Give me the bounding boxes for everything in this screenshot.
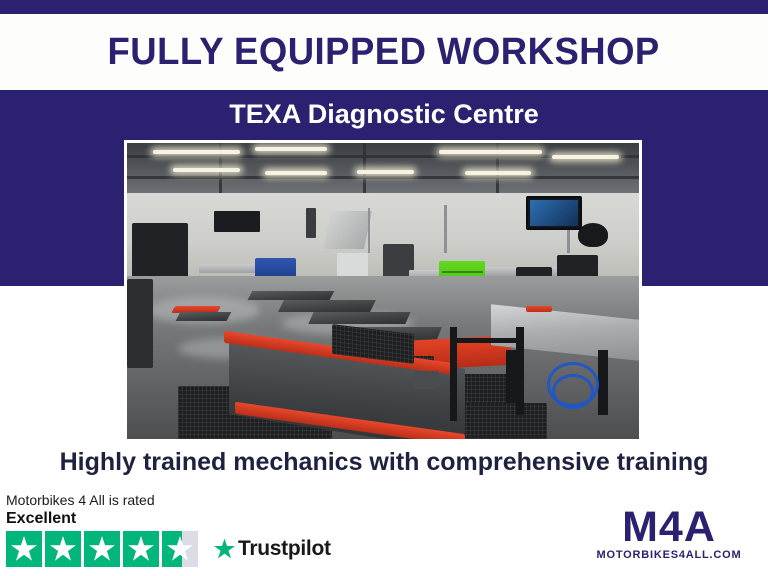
ceiling-light: [465, 171, 532, 175]
ceiling-light: [255, 147, 327, 151]
star-1: [6, 531, 42, 567]
star-5: [162, 531, 198, 567]
top-navy-strip: [0, 0, 768, 14]
ceiling-beam: [363, 143, 366, 193]
red-tool-tray: [526, 306, 552, 312]
page-title: FULLY EQUIPPED WORKSHOP: [108, 31, 660, 74]
foreground-equipment: [127, 279, 153, 368]
star-rating: [6, 531, 198, 567]
support-post: [444, 205, 447, 252]
steel-ramp: [309, 312, 412, 324]
wall-hanging: [306, 208, 316, 238]
helmet: [578, 223, 609, 247]
ceiling-light: [552, 155, 619, 159]
trustpilot-rated-label: Motorbikes 4 All is rated: [6, 492, 336, 509]
steel-ramp: [278, 300, 376, 312]
m4a-brand-logo[interactable]: M4A MOTORBIKES4ALL.COM: [584, 505, 754, 562]
trustpilot-score-label: Excellent: [6, 509, 336, 528]
ceiling-light: [357, 170, 413, 174]
title-band: FULLY EQUIPPED WORKSHOP: [0, 14, 768, 90]
bike-stand-frame: [450, 338, 522, 342]
ceiling-light: [173, 168, 240, 172]
workshop-promo-slide: FULLY EQUIPPED WORKSHOP TEXA Diagnostic …: [0, 0, 768, 576]
steel-ramp: [176, 312, 232, 321]
ceiling-light: [439, 150, 541, 154]
table-leg: [598, 350, 608, 415]
star-2: [45, 531, 81, 567]
trustpilot-star-icon: [214, 539, 235, 560]
trustpilot-stars-row: Trustpilot: [6, 531, 336, 567]
coiled-air-hose: [552, 374, 594, 410]
trustpilot-rating-block[interactable]: Motorbikes 4 All is rated Excellent: [6, 492, 336, 567]
steel-ramp: [248, 291, 335, 300]
lift-foot-pedal: [414, 371, 440, 389]
support-post: [368, 208, 370, 252]
ceiling-light: [153, 150, 240, 154]
star-3: [84, 531, 120, 567]
tv-screen: [530, 200, 577, 226]
m4a-logo-mark: M4A: [584, 505, 754, 549]
star-4: [123, 531, 159, 567]
page-subtitle: TEXA Diagnostic Centre: [0, 99, 768, 130]
trustpilot-logo[interactable]: Trustpilot: [214, 537, 331, 561]
wall-tool-board: [214, 211, 260, 232]
workshop-photo-frame: [124, 140, 642, 442]
extraction-duct: [323, 211, 372, 249]
dark-cabinet: [132, 223, 188, 282]
m4a-logo-url: MOTORBIKES4ALL.COM: [584, 549, 754, 562]
tagline: Highly trained mechanics with comprehens…: [0, 448, 768, 477]
trustpilot-wordmark: Trustpilot: [238, 537, 331, 561]
workshop-photo: [127, 143, 639, 439]
ceiling-light: [265, 171, 326, 175]
wall-tv: [526, 196, 581, 230]
ceiling-beam: [127, 176, 639, 179]
